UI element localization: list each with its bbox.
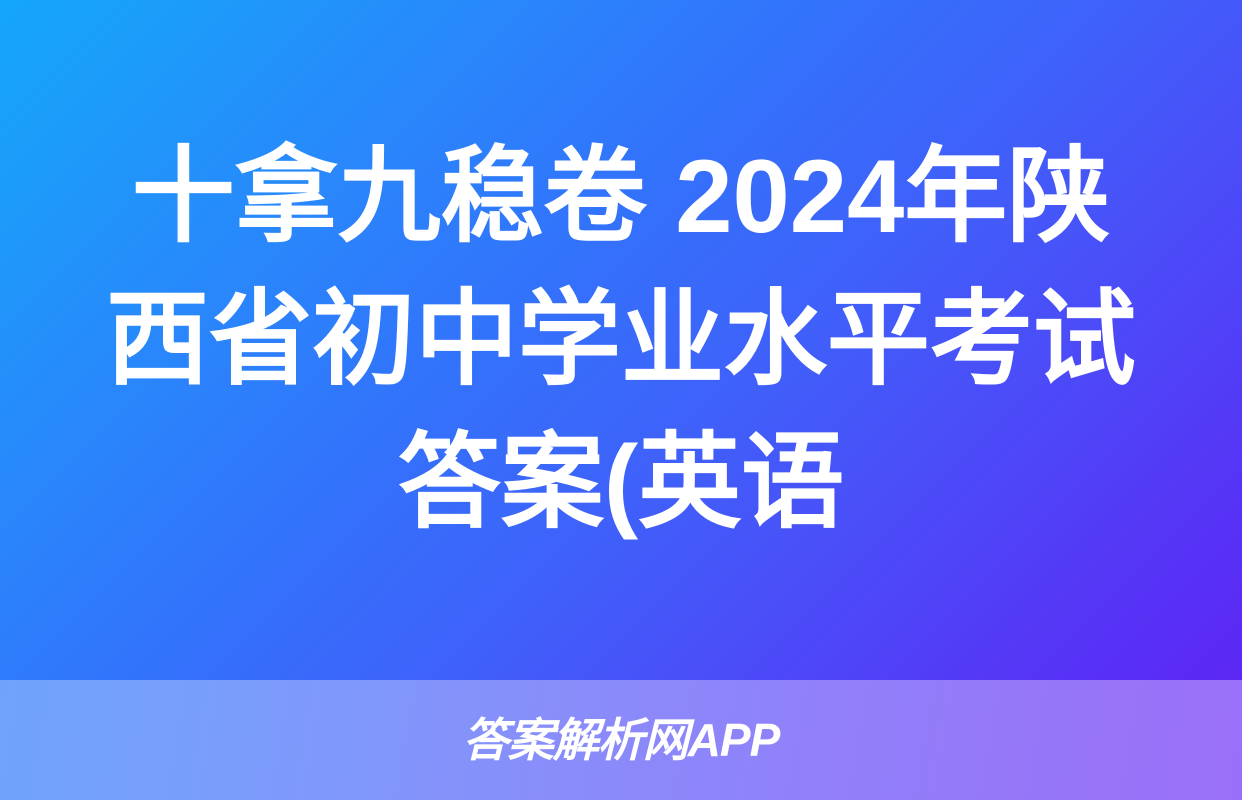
page-title: 十拿九稳卷 2024年陕西省初中学业水平考试答案(英语 bbox=[81, 126, 1160, 555]
hero-banner: 十拿九稳卷 2024年陕西省初中学业水平考试答案(英语 bbox=[0, 0, 1242, 680]
footer-banner: 答案解析网APP bbox=[0, 680, 1242, 800]
poster-canvas: 十拿九稳卷 2024年陕西省初中学业水平考试答案(英语 答案解析网APP bbox=[0, 0, 1242, 800]
app-brand-label: 答案解析网APP bbox=[463, 717, 780, 763]
